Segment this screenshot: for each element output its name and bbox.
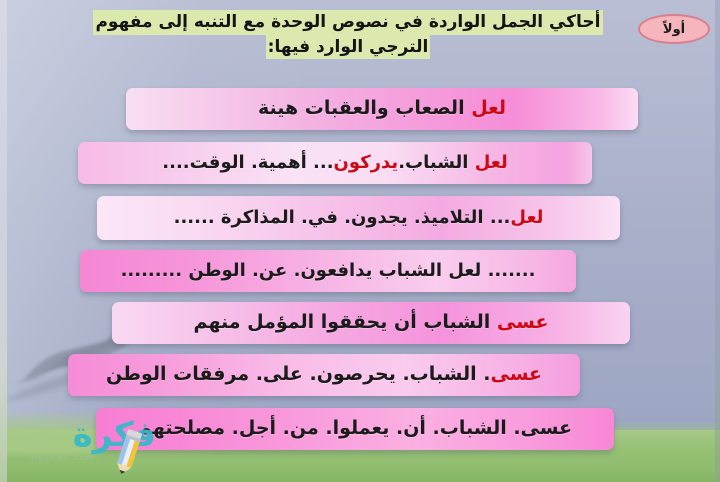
- sentence-1-red-part: لعل: [471, 97, 506, 119]
- sentence-6-red-part: عسى: [490, 363, 542, 385]
- sentence-box-2: لعل الشباب.يدركون... أهمية. الوقت....: [78, 142, 592, 184]
- sentence-5-rest: الشباب أن يحققوا المؤمل منهم: [194, 311, 497, 333]
- sentence-2-mid: الشباب.: [398, 152, 475, 173]
- sentence-text-6: عسى. الشباب. يحرصون. على. مرفقات الوطن: [106, 364, 542, 386]
- sentence-7-rest: عسى. الشباب. أن. يعملوا. من. أجل. مصلحته…: [138, 417, 572, 439]
- sentence-6-rest: . الشباب. يحرصون. على. مرفقات الوطن: [106, 363, 490, 385]
- sentence-box-1: لعل الصعاب والعقبات هينة: [126, 88, 638, 130]
- sentence-box-4: ....... لعل الشباب يدافعون. عن. الوطن ..…: [80, 250, 576, 292]
- watermark-subtext: mosoah.com: [6, 453, 118, 462]
- header-line-2: الترجي الوارد فيها:: [266, 35, 431, 60]
- sentence-box-3: لعل... التلاميذ. يجدون. في. المذاكرة ...…: [97, 196, 620, 240]
- header-instruction: أحاكي الجمل الواردة في نصوص الوحدة مع ال…: [68, 10, 628, 59]
- sentence-box-6: عسى. الشباب. يحرصون. على. مرفقات الوطن: [68, 354, 580, 396]
- slide-canvas: أولاً أحاكي الجمل الواردة في نصوص الوحدة…: [0, 0, 720, 482]
- sentence-text-5: عسى الشباب أن يحققوا المؤمل منهم: [194, 312, 549, 334]
- sentence-3-rest: ... التلاميذ. يجدون. في. المذاكرة ......: [174, 207, 511, 228]
- sentence-4-rest: ....... لعل الشباب يدافعون. عن. الوطن ..…: [121, 260, 536, 281]
- pencil-icon: [108, 428, 148, 476]
- sentence-box-7: عسى. الشباب. أن. يعملوا. من. أجل. مصلحته…: [96, 408, 614, 450]
- sentence-box-5: عسى الشباب أن يحققوا المؤمل منهم: [112, 302, 630, 344]
- sentence-2-rest: ... أهمية. الوقت....: [162, 152, 333, 173]
- order-badge: أولاً: [638, 14, 710, 44]
- sentence-3-red-part: لعل: [510, 207, 543, 228]
- sentence-text-4: ....... لعل الشباب يدافعون. عن. الوطن ..…: [121, 261, 536, 281]
- slide-edge-left: [0, 0, 7, 482]
- order-badge-label: أولاً: [663, 22, 685, 37]
- sentence-text-7: عسى. الشباب. أن. يعملوا. من. أجل. مصلحته…: [138, 418, 572, 440]
- header: أولاً أحاكي الجمل الواردة في نصوص الوحدة…: [0, 6, 720, 72]
- header-row-2: الترجي الوارد فيها:: [68, 35, 628, 60]
- header-row-1: أحاكي الجمل الواردة في نصوص الوحدة مع ال…: [68, 10, 628, 35]
- header-line-1: أحاكي الجمل الواردة في نصوص الوحدة مع ال…: [93, 10, 602, 35]
- sentence-2-red-mid: يدركون: [334, 152, 399, 173]
- slide-edge-right: [715, 0, 720, 482]
- sentence-1-rest: الصعاب والعقبات هينة: [258, 97, 471, 119]
- sentence-5-red-part: عسى: [497, 311, 549, 333]
- sentence-text-2: لعل الشباب.يدركون... أهمية. الوقت....: [162, 153, 507, 173]
- sentence-2-red-part: لعل: [475, 152, 508, 173]
- sentence-text-3: لعل... التلاميذ. يجدون. في. المذاكرة ...…: [174, 208, 544, 228]
- sentence-text-1: لعل الصعاب والعقبات هينة: [258, 98, 506, 120]
